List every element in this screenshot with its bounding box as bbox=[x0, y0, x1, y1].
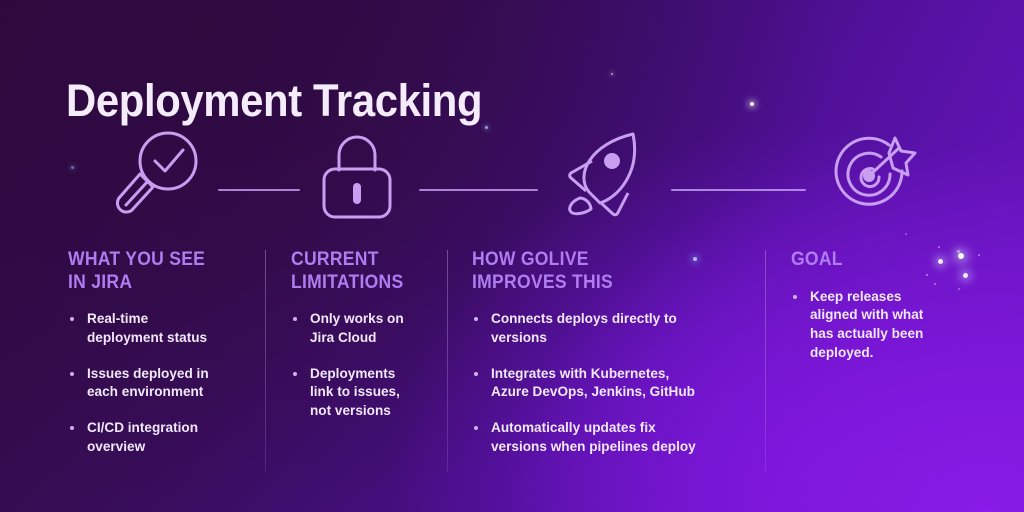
list-item: Automatically updates fix versions when … bbox=[472, 419, 762, 457]
bullet-list: Keep releases aligned with what has actu… bbox=[791, 288, 966, 363]
list-item: Connects deploys directly to versions bbox=[472, 310, 762, 348]
star bbox=[978, 254, 980, 256]
star bbox=[611, 73, 613, 75]
connector-line-2 bbox=[419, 189, 538, 191]
list-item: Keep releases aligned with what has actu… bbox=[791, 288, 966, 363]
column-what-you-see-in-jira: WHAT YOU SEE IN JIRA Real-time deploymen… bbox=[68, 248, 253, 457]
column-heading: CURRENT LIMITATIONS bbox=[291, 248, 426, 293]
icon-cell-2 bbox=[302, 126, 412, 226]
column-heading: WHAT YOU SEE IN JIRA bbox=[68, 248, 235, 293]
icon-cell-4 bbox=[818, 126, 928, 226]
list-item: Issues deployed in each environment bbox=[68, 365, 253, 403]
column-how-golive-improves-this: HOW GOLIVE IMPROVES THIS Connects deploy… bbox=[472, 248, 762, 457]
target-arrow-icon bbox=[823, 128, 923, 224]
list-item: Real-time deployment status bbox=[68, 310, 253, 348]
column-divider bbox=[765, 250, 766, 472]
rocket-icon bbox=[555, 126, 655, 226]
connector-line-1 bbox=[218, 189, 300, 191]
icon-cell-1 bbox=[103, 126, 213, 226]
list-item: Only works on Jira Cloud bbox=[291, 310, 441, 348]
column-heading: HOW GOLIVE IMPROVES THIS bbox=[472, 248, 733, 293]
column-divider bbox=[447, 250, 448, 472]
icon-row bbox=[0, 126, 1024, 226]
bullet-list: Real-time deployment status Issues deplo… bbox=[68, 310, 253, 457]
icon-cell-3 bbox=[550, 126, 660, 226]
padlock-icon bbox=[317, 130, 397, 222]
page-title: Deployment Tracking bbox=[66, 78, 482, 123]
star bbox=[905, 233, 907, 235]
magnifier-check-icon bbox=[110, 127, 206, 226]
list-item: CI/CD integration overview bbox=[68, 419, 253, 457]
bullet-list: Only works on Jira Cloud Deployments lin… bbox=[291, 310, 441, 421]
column-heading: GOAL bbox=[791, 248, 949, 271]
column-current-limitations: CURRENT LIMITATIONS Only works on Jira C… bbox=[291, 248, 441, 421]
infographic-slide: Deployment Tracking bbox=[0, 0, 1024, 512]
list-item: Deployments link to issues, not versions bbox=[291, 365, 441, 421]
connector-line-3 bbox=[671, 189, 806, 191]
star bbox=[750, 102, 754, 106]
column-divider bbox=[265, 250, 266, 472]
list-item: Integrates with Kubernetes, Azure DevOps… bbox=[472, 365, 762, 403]
bullet-list: Connects deploys directly to versions In… bbox=[472, 310, 762, 457]
column-goal: GOAL Keep releases aligned with what has… bbox=[791, 248, 966, 363]
